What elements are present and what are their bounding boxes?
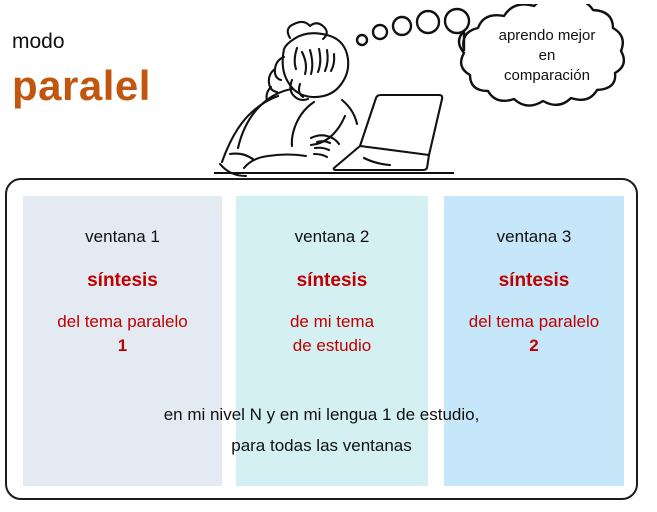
synthesis-desc-3-line-2: 2	[444, 334, 624, 358]
synthesis-description-3: del tema paralelo 2	[444, 310, 624, 358]
title-modo: modo	[12, 30, 65, 54]
page-title: paralel	[12, 62, 151, 110]
synthesis-heading-1: síntesis	[23, 270, 222, 292]
thought-bubble-line-3: comparación	[457, 66, 637, 86]
synthesis-description-1: del tema paralelo 1	[23, 310, 222, 358]
window-label-2: ventana 2	[236, 226, 428, 248]
window-column-3[interactable]: ventana 3 síntesis del tema paralelo 2	[444, 196, 624, 486]
synthesis-desc-1-line-2: 1	[23, 334, 222, 358]
synthesis-heading-2: síntesis	[236, 270, 428, 292]
synthesis-desc-2-line-1: de mi tema	[236, 310, 428, 334]
window-label-3: ventana 3	[444, 226, 624, 248]
synthesis-description-2: de mi tema de estudio	[236, 310, 428, 358]
header: modo paralel	[0, 0, 657, 178]
window-column-1[interactable]: ventana 1 síntesis del tema paralelo 1	[23, 196, 222, 486]
synthesis-desc-1-line-1: del tema paralelo	[23, 310, 222, 334]
synthesis-heading-3: síntesis	[444, 270, 624, 292]
thought-bubble: aprendo mejor en comparación	[352, 4, 657, 132]
thought-bubble-line-1: aprendo mejor	[457, 26, 637, 46]
thought-bubble-line-2: en	[457, 46, 637, 66]
parallel-mode-panel: ventana 1 síntesis del tema paralelo 1 v…	[5, 178, 638, 500]
thought-bubble-text: aprendo mejor en comparación	[457, 26, 637, 86]
synthesis-desc-2-line-2: de estudio	[236, 334, 428, 358]
window-label-1: ventana 1	[23, 226, 222, 248]
window-column-2[interactable]: ventana 2 síntesis de mi tema de estudio	[236, 196, 428, 486]
synthesis-desc-3-line-1: del tema paralelo	[444, 310, 624, 334]
